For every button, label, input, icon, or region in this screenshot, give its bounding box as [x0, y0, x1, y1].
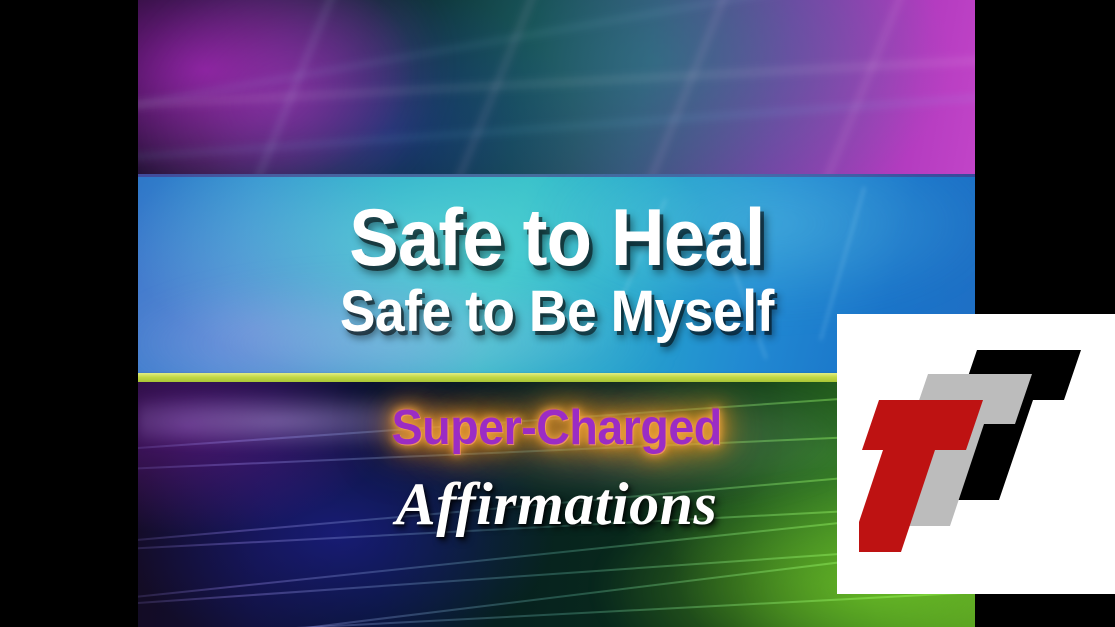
texture-grid-line	[796, 0, 924, 174]
texture-grid-line	[620, 0, 748, 174]
thumbnail-canvas: Safe to Heal Safe to Be Myself Super-Cha…	[0, 0, 1115, 627]
triple-t-logo-icon	[859, 340, 1095, 568]
top-texture-band	[138, 0, 975, 174]
subhead-line-1: Super-Charged	[391, 400, 721, 456]
logo-panel	[837, 314, 1115, 594]
subhead-line-2: Affirmations	[396, 470, 718, 539]
letterbox-bar-left	[0, 0, 138, 627]
headline-line-1: Safe to Heal	[349, 200, 765, 277]
headline-line-2: Safe to Be Myself	[339, 283, 773, 341]
